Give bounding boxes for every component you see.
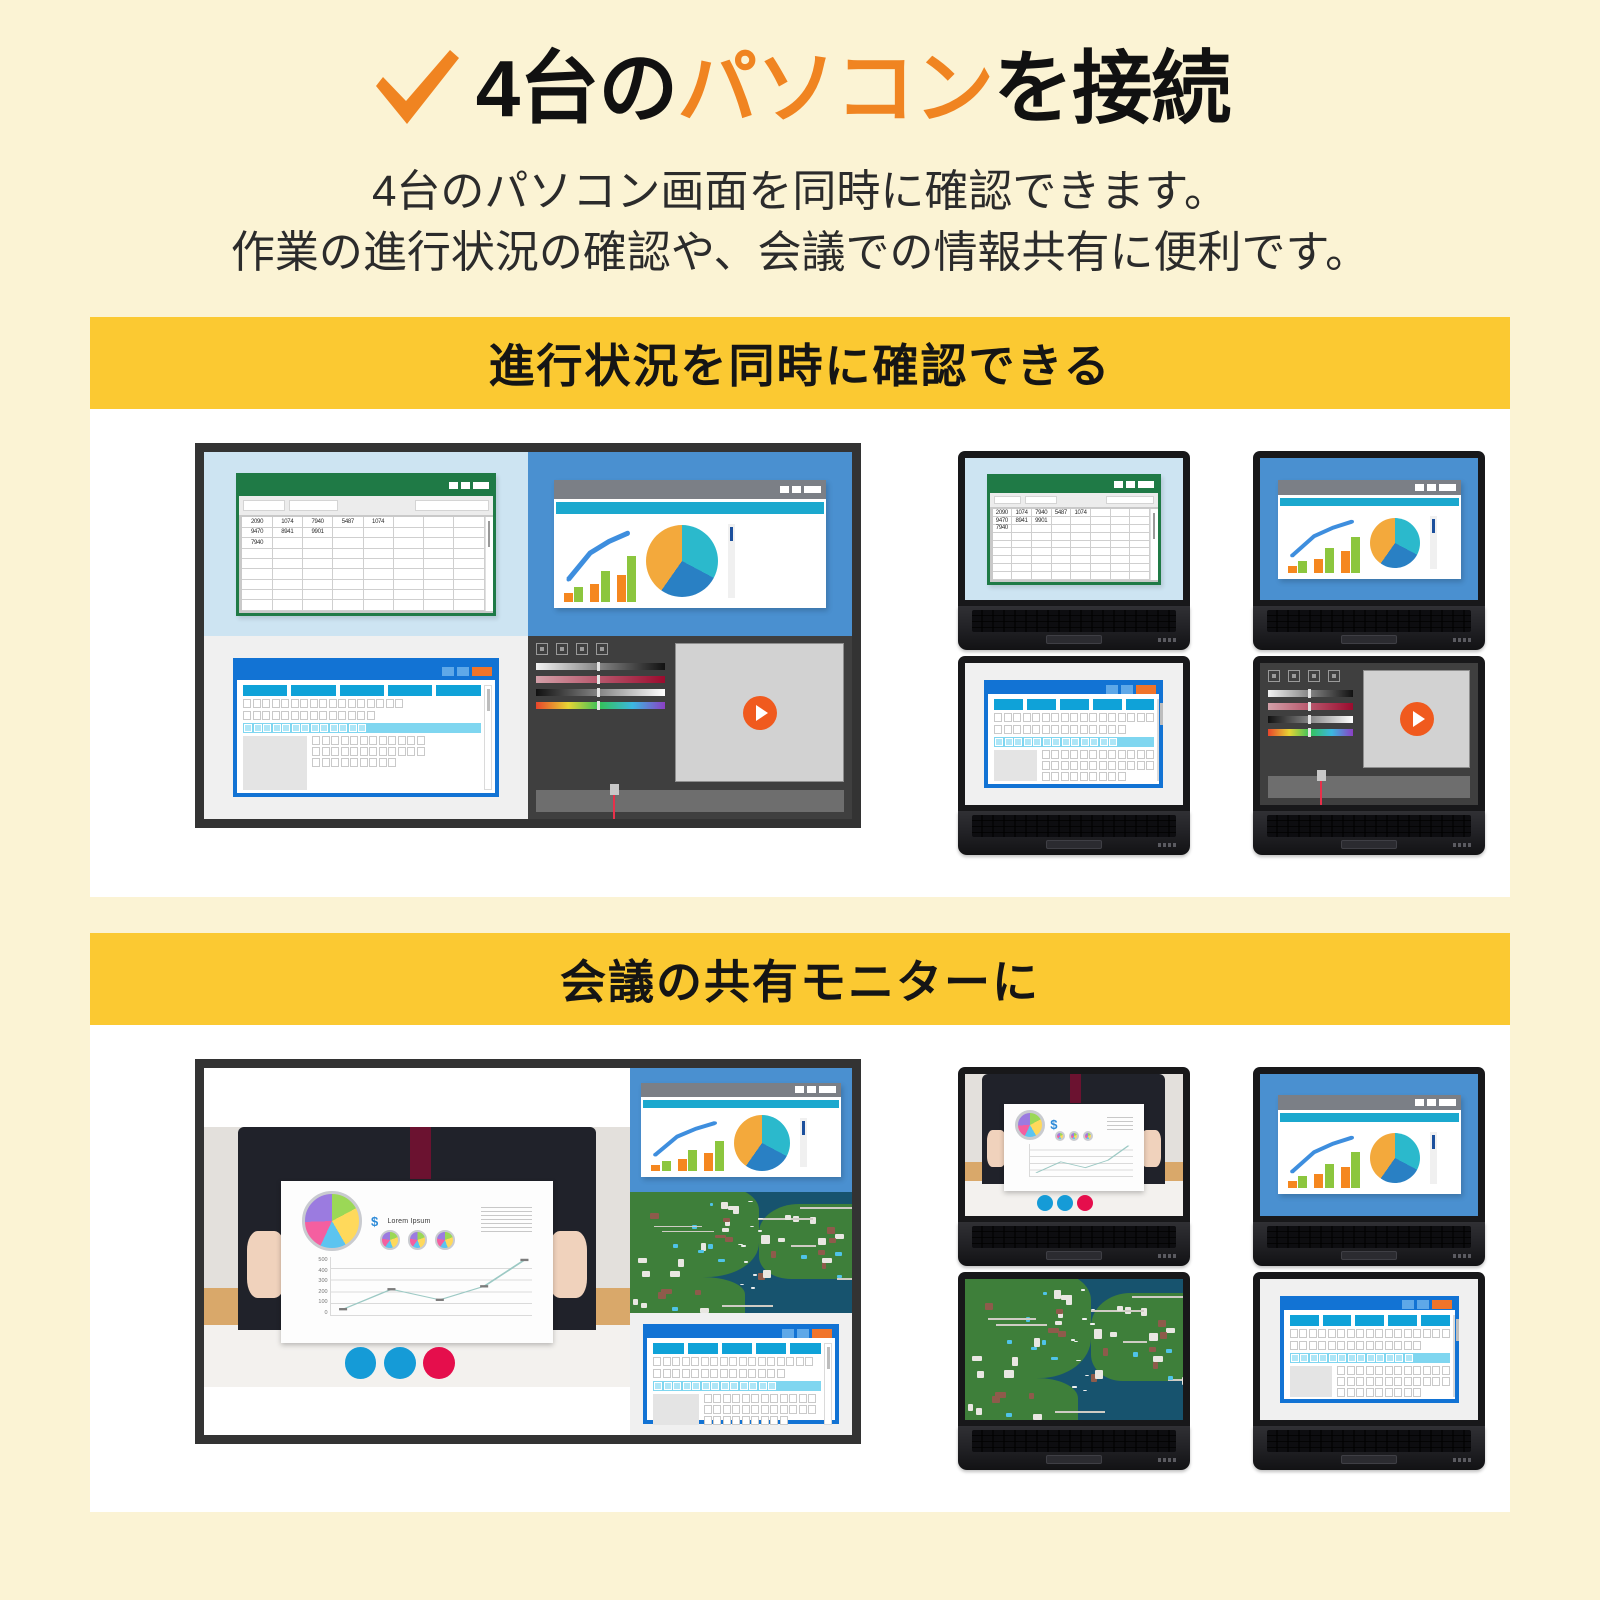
chart-window (554, 480, 826, 608)
y-tick: 300 (302, 1278, 328, 1284)
spreadsheet-cell[interactable] (454, 580, 484, 590)
text-line (312, 758, 481, 767)
window-maximize-icon[interactable] (457, 667, 469, 676)
window-close-icon[interactable] (473, 482, 489, 489)
spreadsheet-cell[interactable] (1012, 548, 1032, 556)
spreadsheet-scrollbar[interactable] (485, 517, 493, 610)
laptop-chart[interactable] (1253, 1067, 1485, 1266)
spreadsheet-cell[interactable] (303, 569, 333, 579)
section-1-band-label: 進行状況を同時に確認できる (488, 330, 1111, 396)
section-1-band: 進行状況を同時に確認できる (90, 317, 1510, 409)
pie-chart-large (302, 1191, 362, 1251)
spreadsheet-cell[interactable] (273, 549, 303, 559)
spreadsheet-cell[interactable] (1032, 572, 1052, 580)
spreadsheet-titlebar (239, 476, 492, 497)
laptop-base (958, 1222, 1190, 1266)
section-2-panel: $ Lorem Ipsum 5004003002001000 (90, 1025, 1510, 1512)
title-part-2: を接続 (993, 44, 1230, 133)
spreadsheet-cell[interactable]: 8941 (1012, 517, 1032, 525)
monitor-screen: 209010747940548710749470894199017940 (204, 452, 852, 819)
spreadsheet-cell[interactable]: 8941 (273, 528, 303, 538)
document-titlebar (237, 662, 495, 680)
spreadsheet-cell[interactable]: 1074 (1071, 509, 1091, 517)
subtitle-line-1: 4台のパソコン画面を同時に確認できます。 (0, 162, 1600, 223)
keyboard (972, 610, 1176, 632)
spreadsheet-cell[interactable] (333, 538, 363, 548)
spreadsheet-cell[interactable] (993, 572, 1013, 580)
tab[interactable] (388, 685, 432, 696)
spreadsheet-cell[interactable] (1071, 556, 1091, 564)
pane-photo[interactable]: $ Lorem Ipsum 5004003002001000 (204, 1068, 630, 1435)
spreadsheet-cell[interactable] (1071, 525, 1091, 533)
section-2-band-label: 会議の共有モニターに (560, 946, 1040, 1012)
image-placeholder (243, 736, 307, 790)
toolbar-field-c[interactable] (415, 500, 489, 511)
spreadsheet-cell[interactable] (1091, 572, 1111, 580)
spreadsheet-cell[interactable] (364, 528, 394, 538)
spreadsheet-cell[interactable] (1032, 533, 1052, 541)
window-maximize-icon[interactable] (792, 486, 801, 493)
pane-chart[interactable] (630, 1068, 852, 1192)
spreadsheet-cell[interactable] (1130, 564, 1150, 572)
spreadsheet-cell[interactable] (1012, 541, 1032, 549)
spreadsheet-cell[interactable] (1091, 541, 1111, 549)
spreadsheet-cell[interactable]: 2090 (242, 517, 272, 527)
chart-toolbar (556, 502, 824, 514)
spreadsheet-cell[interactable] (242, 569, 272, 579)
laptop-photo[interactable]: $ (958, 1067, 1190, 1266)
infographic-sheet: $ Lorem Ipsum 5004003002001000 (281, 1181, 554, 1343)
spreadsheet-cell[interactable]: 1074 (273, 517, 303, 527)
spreadsheet-cell[interactable] (303, 538, 333, 548)
spreadsheet-cell[interactable]: 9901 (1032, 517, 1052, 525)
spreadsheet-cell[interactable] (242, 600, 272, 610)
spreadsheet-cell[interactable]: 7940 (1032, 509, 1052, 517)
spreadsheet-cell[interactable] (394, 528, 424, 538)
spreadsheet-cell[interactable] (1032, 556, 1052, 564)
spreadsheet-cell[interactable]: 9901 (303, 528, 333, 538)
spreadsheet-cell[interactable] (1091, 556, 1111, 564)
spreadsheet-cell[interactable] (1130, 517, 1150, 525)
spreadsheet-cell[interactable] (424, 569, 454, 579)
spreadsheet-cell[interactable]: 7940 (303, 517, 333, 527)
chart-canvas (554, 514, 826, 609)
spreadsheet-cell[interactable] (1012, 556, 1032, 564)
spreadsheet-window: 209010747940548710749470894199017940 (236, 473, 495, 616)
laptop-base (1253, 1222, 1485, 1266)
page-header: 4台のパソコンを接続 4台のパソコン画面を同時に確認できます。 作業の進行状況の… (0, 0, 1600, 283)
spreadsheet-cell[interactable] (303, 549, 333, 559)
tool-button-icon[interactable] (596, 643, 608, 655)
spreadsheet-cell[interactable] (454, 538, 484, 548)
spreadsheet-cell[interactable] (1071, 541, 1091, 549)
spreadsheet-cell[interactable] (1111, 509, 1131, 517)
spreadsheet-cell[interactable] (1111, 517, 1131, 525)
spreadsheet-cell[interactable] (273, 569, 303, 579)
dollar-icon: $ (1050, 1117, 1057, 1132)
spreadsheet-cell[interactable]: 5487 (333, 517, 363, 527)
trend-line (564, 520, 637, 603)
spreadsheet-cell[interactable] (394, 517, 424, 527)
toolbar-field-b[interactable] (289, 500, 338, 511)
window-maximize-icon[interactable] (461, 482, 470, 489)
spreadsheet-cell[interactable]: 5487 (1052, 509, 1072, 517)
window-minimize-icon[interactable] (442, 667, 454, 676)
spreadsheet-cell[interactable] (1091, 564, 1111, 572)
spreadsheet-grid[interactable]: 209010747940548710749470894199017940 (242, 517, 484, 610)
spreadsheet-cell[interactable] (1111, 548, 1131, 556)
text-line (312, 747, 481, 756)
trend-line (1288, 512, 1361, 572)
spreadsheet-cell[interactable] (1130, 525, 1150, 533)
spreadsheet-cell[interactable] (1052, 564, 1072, 572)
timeline-playhead[interactable] (610, 784, 619, 795)
map-buildings (965, 1279, 1183, 1421)
spreadsheet-cell[interactable] (273, 600, 303, 610)
necktie (410, 1127, 431, 1180)
spreadsheet-cell[interactable] (394, 600, 424, 610)
spreadsheet-cell[interactable] (454, 559, 484, 569)
document-window (233, 658, 499, 797)
spreadsheet-cell[interactable] (333, 580, 363, 590)
slider-hue[interactable] (536, 702, 665, 709)
y-tick: 100 (302, 1299, 328, 1305)
spreadsheet-cell[interactable] (1111, 525, 1131, 533)
spreadsheet-cell[interactable] (1052, 548, 1072, 556)
y-tick: 0 (302, 1310, 328, 1316)
spreadsheet-cell[interactable] (993, 541, 1013, 549)
laptop-base (1253, 606, 1485, 650)
spreadsheet-cell[interactable] (1130, 548, 1150, 556)
spreadsheet-cell[interactable] (1052, 556, 1072, 564)
spreadsheet-cell[interactable] (333, 590, 363, 600)
slider-contrast[interactable] (536, 689, 665, 696)
laptop-map[interactable] (958, 1272, 1190, 1471)
spreadsheet-cell[interactable] (1052, 541, 1072, 549)
spreadsheet-grid: 209010747940548710749470894199017940 (993, 509, 1150, 579)
y-tick: 200 (302, 1289, 328, 1295)
infographic-title: Lorem Ipsum (387, 1218, 430, 1225)
spreadsheet-cell[interactable] (454, 517, 484, 527)
spreadsheet-cell[interactable] (1032, 525, 1052, 533)
spreadsheet-cell[interactable] (1130, 533, 1150, 541)
window-minimize-icon[interactable] (780, 486, 789, 493)
spreadsheet-cell[interactable] (1130, 541, 1150, 549)
tab[interactable] (436, 685, 480, 696)
spreadsheet-cell[interactable] (424, 517, 454, 527)
monitor-screen: $ Lorem Ipsum 5004003002001000 (204, 1068, 852, 1435)
laptop-base (1253, 1426, 1485, 1470)
pane-chart[interactable] (528, 452, 852, 636)
spreadsheet-cell[interactable] (1012, 564, 1032, 572)
video-preview[interactable] (675, 643, 844, 783)
laptop-group-1: 209010747940548710749470894199017940 (861, 443, 1510, 854)
spreadsheet-cell[interactable]: 9470 (242, 528, 272, 538)
spreadsheet-cell[interactable] (424, 528, 454, 538)
laptop-document[interactable] (958, 656, 1190, 855)
page-subtitle: 4台のパソコン画面を同時に確認できます。 作業の進行状況の確認や、会議での情報共… (0, 162, 1600, 283)
spreadsheet-cell[interactable] (1071, 564, 1091, 572)
laptop-video[interactable] (1253, 656, 1485, 855)
quad-view-monitor-2[interactable]: $ Lorem Ipsum 5004003002001000 (195, 1059, 861, 1444)
spreadsheet-cell[interactable] (454, 549, 484, 559)
spreadsheet-cell[interactable] (1091, 525, 1111, 533)
video-toolbar[interactable] (536, 643, 665, 655)
check-icon (370, 46, 462, 132)
laptop-base (958, 606, 1190, 650)
pane-document[interactable] (204, 636, 528, 820)
toolbar-field-a[interactable] (243, 500, 285, 511)
spreadsheet-cell[interactable] (993, 548, 1013, 556)
title-part-1: 4台の (476, 44, 678, 133)
spreadsheet-cell[interactable] (424, 590, 454, 600)
pane-document[interactable] (630, 1313, 852, 1435)
spreadsheet-cell[interactable] (303, 590, 333, 600)
spreadsheet-cell[interactable] (333, 549, 363, 559)
slider-brightness[interactable] (536, 663, 665, 670)
spreadsheet-cell[interactable] (454, 569, 484, 579)
spreadsheet-cell[interactable] (333, 559, 363, 569)
title-row: 4台のパソコンを接続 (0, 46, 1600, 132)
tab[interactable] (243, 685, 287, 696)
spreadsheet-cell[interactable] (273, 559, 303, 569)
spreadsheet-cell[interactable] (333, 600, 363, 610)
spreadsheet-cell[interactable] (454, 590, 484, 600)
laptop-group-2: $ (861, 1059, 1510, 1470)
spreadsheet-cell[interactable] (364, 569, 394, 579)
trackpad (1046, 635, 1102, 644)
spreadsheet-cell[interactable] (424, 559, 454, 569)
section-progress: 進行状況を同時に確認できる (90, 317, 1510, 896)
spreadsheet-toolbar (239, 496, 492, 515)
spreadsheet-cell[interactable] (242, 590, 272, 600)
spreadsheet-cell[interactable] (1091, 517, 1111, 525)
window-close-icon[interactable] (472, 667, 492, 676)
spreadsheet-cell[interactable] (364, 580, 394, 590)
spreadsheet-cell[interactable]: 1074 (364, 517, 394, 527)
spreadsheet-cell[interactable] (1012, 572, 1032, 580)
spreadsheet-cell[interactable] (1091, 548, 1111, 556)
spreadsheet-cell[interactable] (424, 600, 454, 610)
laptop-base (958, 811, 1190, 855)
spreadsheet-cell[interactable] (993, 564, 1013, 572)
pane-map[interactable] (630, 1192, 852, 1314)
spreadsheet-cell[interactable] (454, 528, 484, 538)
spreadsheet-cell[interactable] (1111, 572, 1131, 580)
hand-left (247, 1231, 285, 1299)
document-tabs[interactable] (243, 685, 481, 696)
tool-button-icon[interactable] (556, 643, 568, 655)
chart-scrollbar[interactable] (728, 524, 735, 599)
spreadsheet-cell[interactable] (1130, 556, 1150, 564)
spreadsheet-cell[interactable] (1111, 533, 1131, 541)
chart-titlebar (554, 480, 826, 499)
line-chart-plot (330, 1257, 533, 1316)
spreadsheet-cell[interactable] (394, 590, 424, 600)
spreadsheet-cell[interactable]: 2090 (993, 509, 1013, 517)
hand-right (549, 1231, 587, 1299)
spreadsheet-cell[interactable] (242, 559, 272, 569)
spreadsheet-cell[interactable] (1071, 572, 1091, 580)
tool-button-icon[interactable] (576, 643, 588, 655)
pane-spreadsheet[interactable]: 209010747940548710749470894199017940 (204, 452, 528, 636)
spreadsheet-cell[interactable] (1012, 525, 1032, 533)
spreadsheet-cell[interactable] (1032, 564, 1052, 572)
trend-line (651, 1114, 724, 1171)
spreadsheet-cell[interactable] (273, 580, 303, 590)
spreadsheet-cell[interactable] (394, 569, 424, 579)
spreadsheet-cell[interactable] (394, 549, 424, 559)
document-scrollbar[interactable] (484, 685, 492, 790)
text-line (312, 736, 481, 745)
meeting-photo: $ Lorem Ipsum 5004003002001000 (204, 1127, 630, 1388)
spreadsheet-cell[interactable] (364, 590, 394, 600)
spreadsheet-cell[interactable] (1091, 509, 1111, 517)
spreadsheet-cell[interactable]: 7940 (242, 538, 272, 548)
laptop-spreadsheet[interactable]: 209010747940548710749470894199017940 (958, 451, 1190, 650)
spreadsheet-cell[interactable] (242, 549, 272, 559)
spreadsheet-cell[interactable] (1052, 533, 1072, 541)
spreadsheet-cell[interactable]: 1074 (1012, 509, 1032, 517)
window-close-icon[interactable] (804, 486, 821, 493)
spreadsheet-cell[interactable] (1130, 509, 1150, 517)
y-tick: 500 (302, 1257, 328, 1263)
spreadsheet-cell[interactable] (394, 559, 424, 569)
spreadsheet-cell[interactable] (333, 569, 363, 579)
line-chart: 5004003002001000 (302, 1257, 532, 1316)
spreadsheet-cell[interactable] (1111, 564, 1131, 572)
spreadsheet-cell[interactable] (303, 580, 333, 590)
play-icon[interactable] (743, 696, 777, 730)
y-axis-ticks: 5004003002001000 (302, 1257, 330, 1316)
section-2-band: 会議の共有モニターに (90, 933, 1510, 1025)
dollar-icon: $ (371, 1214, 378, 1229)
spreadsheet-cell[interactable] (1032, 548, 1052, 556)
spreadsheet-cell[interactable] (364, 600, 394, 610)
y-tick: 400 (302, 1268, 328, 1274)
spreadsheet-cell[interactable] (273, 538, 303, 548)
text-line (243, 699, 481, 708)
tab[interactable] (291, 685, 335, 696)
spreadsheet-cell[interactable] (424, 538, 454, 548)
spreadsheet-cell[interactable] (394, 538, 424, 548)
laptop-chart[interactable] (1253, 451, 1485, 650)
spreadsheet-cell[interactable] (273, 590, 303, 600)
bar-chart (564, 520, 637, 603)
page-title: 4台のパソコンを接続 (476, 49, 1231, 129)
spreadsheet-cell[interactable] (424, 580, 454, 590)
video-timeline[interactable] (536, 790, 844, 812)
infographic-paragraph (481, 1207, 532, 1235)
spreadsheet-cell[interactable] (1032, 541, 1052, 549)
laptop-document[interactable] (1253, 1272, 1485, 1471)
spreadsheet-cell[interactable] (1071, 533, 1091, 541)
spreadsheet-cell[interactable] (1052, 525, 1072, 533)
pie-chart (734, 1115, 790, 1171)
spreadsheet-cell[interactable] (333, 528, 363, 538)
spreadsheet-cell[interactable] (1111, 541, 1131, 549)
slider-saturation[interactable] (536, 676, 665, 683)
laptop-base (1253, 811, 1485, 855)
pie-chart (1370, 518, 1420, 568)
spreadsheet-cell[interactable] (364, 559, 394, 569)
spreadsheet-cell[interactable] (1012, 533, 1032, 541)
title-highlight: パソコン (677, 44, 993, 133)
window-minimize-icon[interactable] (449, 482, 458, 489)
spreadsheet-cell[interactable] (1071, 548, 1091, 556)
spreadsheet-cell[interactable] (364, 538, 394, 548)
spreadsheet-cell[interactable]: 9470 (993, 517, 1013, 525)
highlighted-line (243, 723, 481, 733)
spreadsheet-cell[interactable] (454, 600, 484, 610)
spreadsheet-cell[interactable] (1111, 556, 1131, 564)
spreadsheet-cell[interactable] (364, 549, 394, 559)
laptop-base (958, 1426, 1190, 1470)
spreadsheet-cell[interactable] (1052, 572, 1072, 580)
spreadsheet-cell[interactable] (993, 533, 1013, 541)
spreadsheet-cell[interactable] (242, 580, 272, 590)
spreadsheet-cell[interactable] (1130, 572, 1150, 580)
subtitle-line-2: 作業の進行状況の確認や、会議での情報共有に便利です。 (0, 223, 1600, 284)
tab[interactable] (340, 685, 384, 696)
spreadsheet-cell[interactable] (303, 559, 333, 569)
color-dots (345, 1347, 490, 1379)
pie-chart (646, 525, 718, 597)
spreadsheet-cell[interactable] (1091, 533, 1111, 541)
spreadsheet-cell[interactable] (394, 580, 424, 590)
spreadsheet-cell[interactable] (424, 549, 454, 559)
spreadsheet-cell[interactable]: 7940 (993, 525, 1013, 533)
spreadsheet-cell[interactable] (993, 556, 1013, 564)
play-icon[interactable] (1400, 702, 1434, 736)
spreadsheet-cell[interactable] (1052, 517, 1072, 525)
section-meeting: 会議の共有モニターに (90, 933, 1510, 1512)
pie-chart (1370, 1133, 1420, 1183)
tool-button-icon[interactable] (536, 643, 548, 655)
map-buildings (630, 1192, 852, 1314)
text-line (243, 711, 481, 720)
quad-view-monitor-1[interactable]: 209010747940548710749470894199017940 (195, 443, 861, 828)
spreadsheet-cell[interactable] (1071, 517, 1091, 525)
pane-video-editor[interactable] (528, 636, 852, 820)
section-1-panel: 209010747940548710749470894199017940 (90, 409, 1510, 896)
spreadsheet-cell[interactable] (303, 600, 333, 610)
